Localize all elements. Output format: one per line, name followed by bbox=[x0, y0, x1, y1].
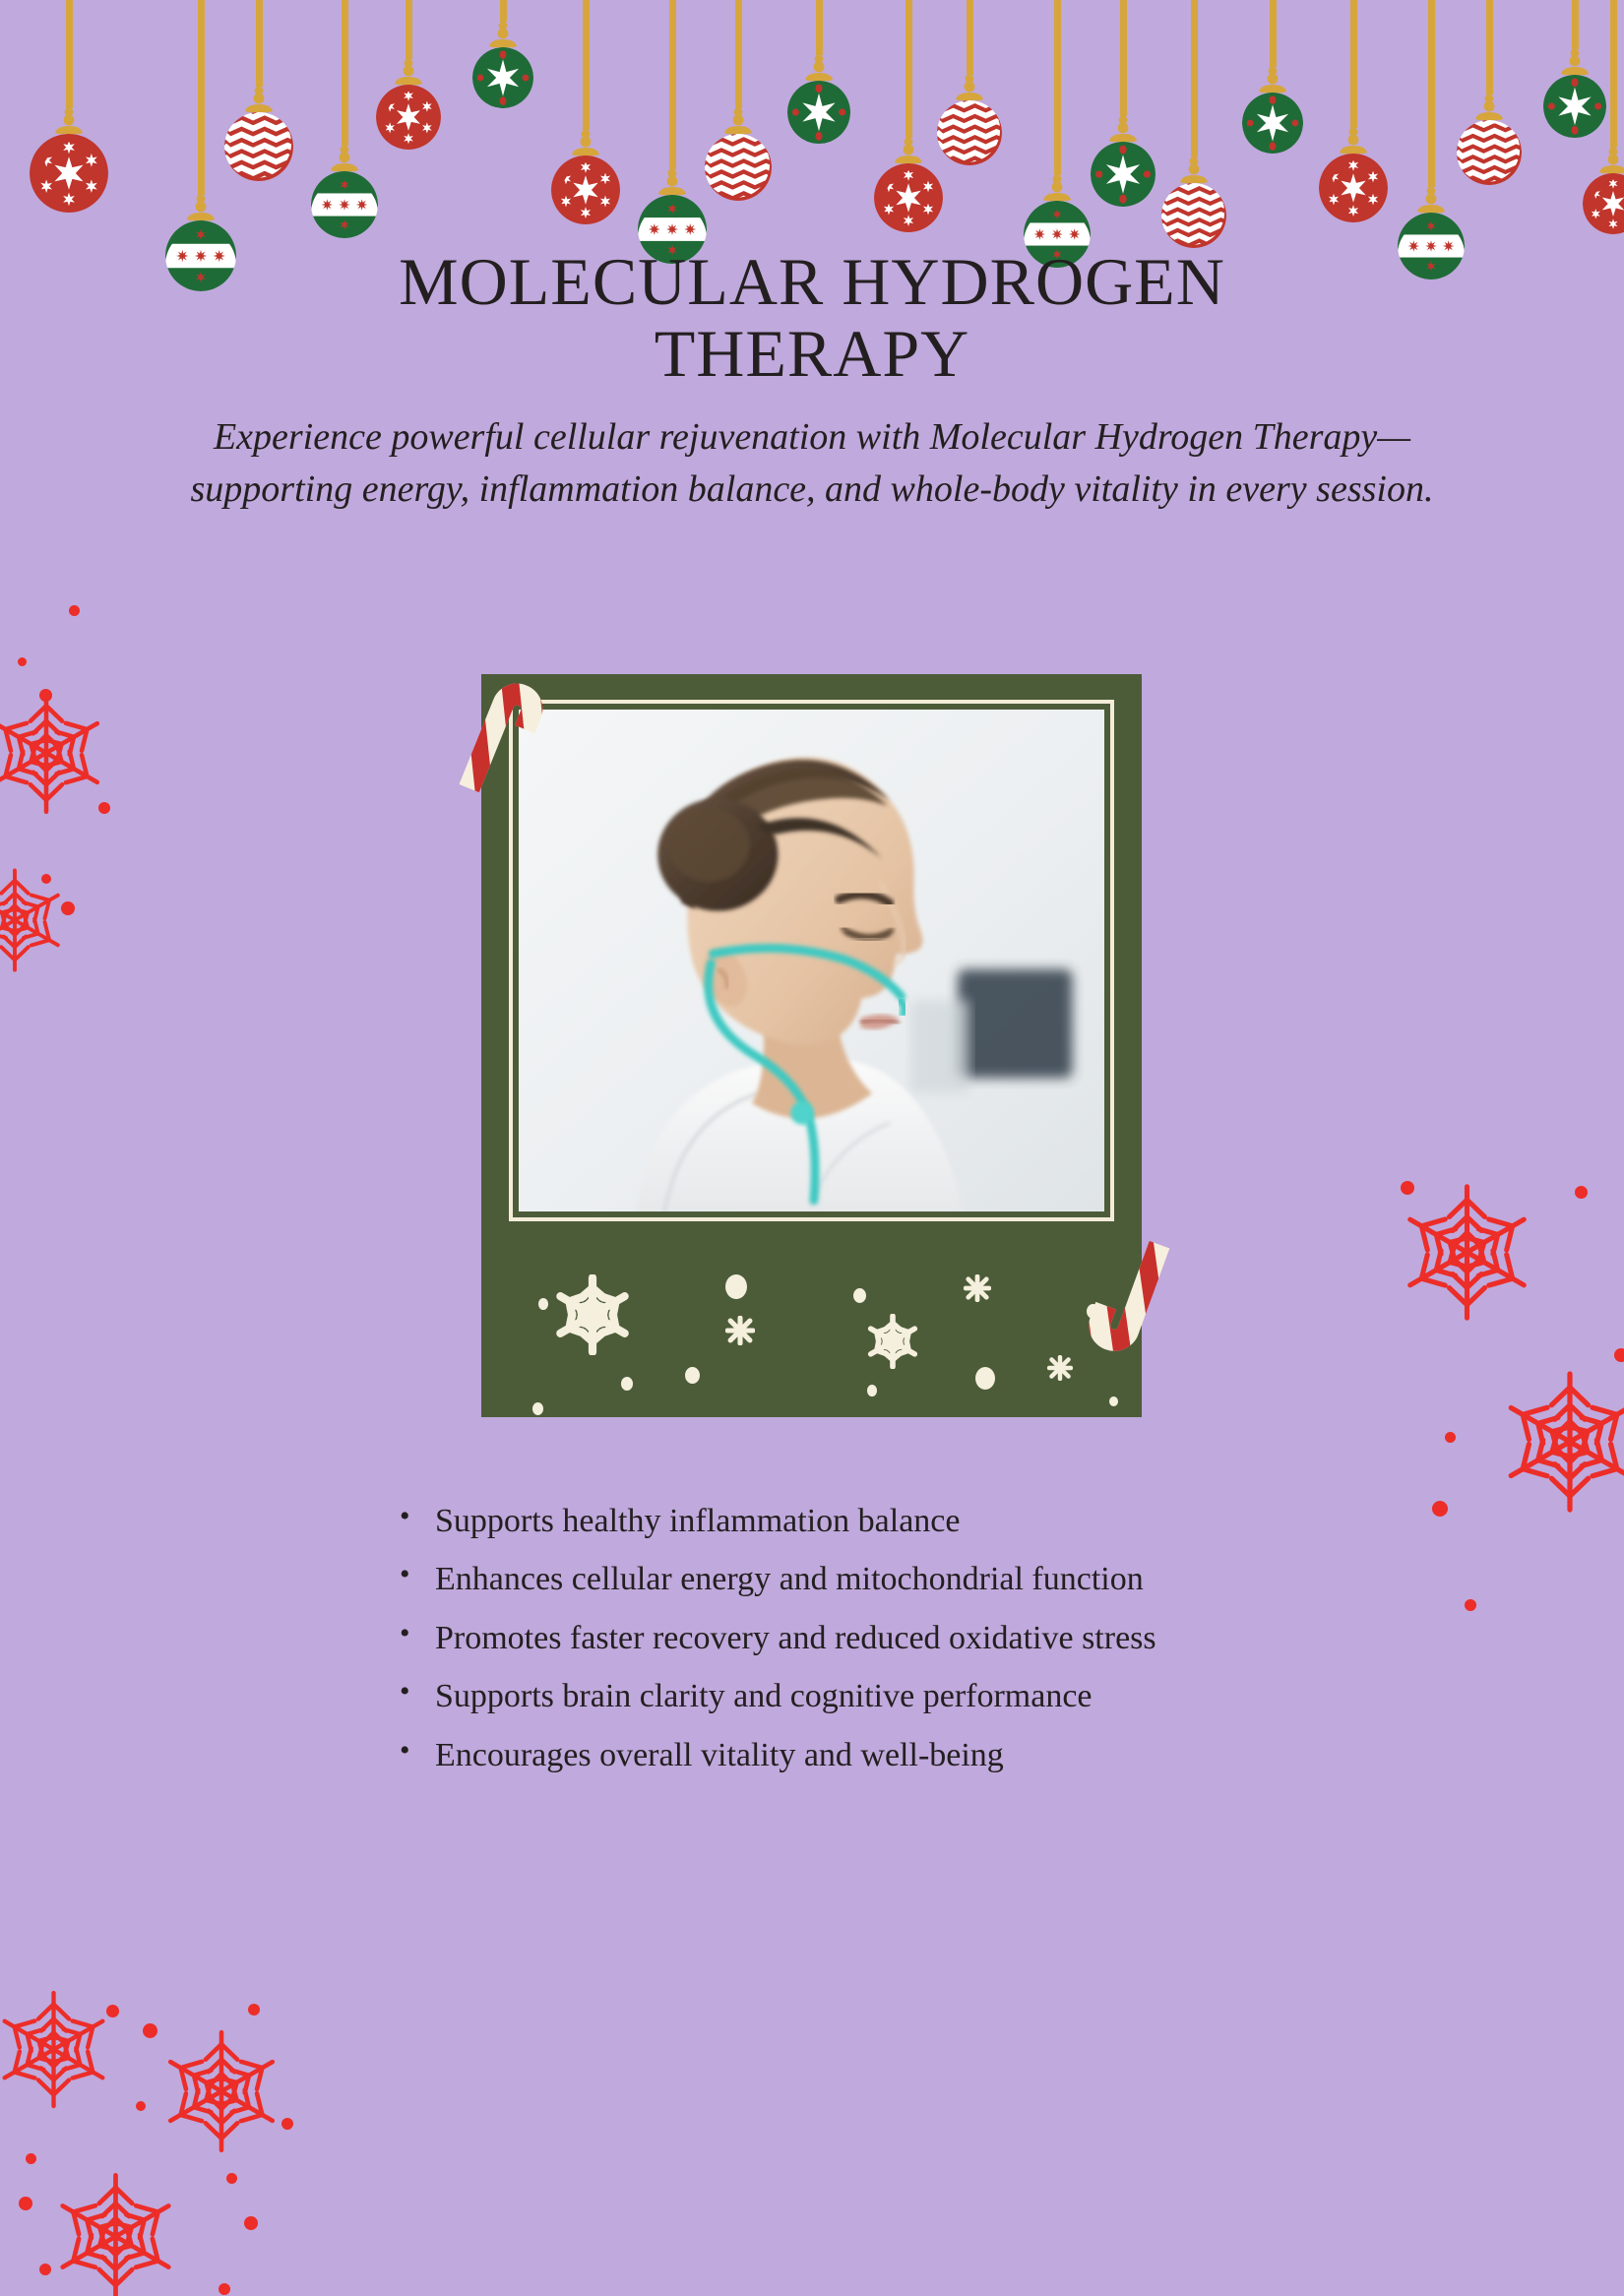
ornament-ball-icon bbox=[311, 171, 378, 238]
snow-dot-icon bbox=[248, 2004, 260, 2016]
ornament-garland bbox=[0, 0, 1624, 256]
therapy-photo-svg bbox=[519, 710, 1104, 1211]
ornament-cord bbox=[342, 0, 348, 146]
title-block: MOLECULAR HYDROGEN THERAPY Experience po… bbox=[0, 246, 1624, 517]
snow-dot-icon bbox=[136, 2101, 146, 2111]
ornament-cap-icon bbox=[953, 75, 986, 108]
ornament-cord bbox=[1428, 0, 1435, 187]
ornament-cap-icon bbox=[721, 108, 755, 142]
ornament-cap-icon bbox=[1414, 187, 1448, 220]
ornament-cord bbox=[406, 0, 412, 59]
therapy-photo bbox=[519, 710, 1104, 1211]
ornament-cap-icon bbox=[1177, 157, 1211, 191]
ornament-cap-icon bbox=[1596, 148, 1624, 181]
page-title: MOLECULAR HYDROGEN THERAPY bbox=[0, 246, 1624, 390]
frame-snowflake-icon bbox=[552, 1274, 633, 1360]
frame-snow-dot-icon bbox=[538, 1298, 548, 1310]
ornament-ball-icon bbox=[705, 134, 772, 201]
ornament-cord bbox=[1054, 0, 1061, 175]
ornament-cap-icon bbox=[242, 87, 276, 120]
snow-dot-icon bbox=[226, 2173, 237, 2184]
snow-dot-icon bbox=[1575, 1186, 1588, 1199]
ornament-cord bbox=[1350, 0, 1357, 128]
ornament-cord bbox=[1191, 0, 1198, 157]
ornament-ball-icon bbox=[937, 100, 1002, 165]
benefits-list: Supports healthy inflammation balanceEnh… bbox=[394, 1494, 1280, 1782]
ornament-ball-icon bbox=[1319, 154, 1388, 222]
ornament-ball-icon bbox=[1543, 75, 1606, 138]
ornament-cord bbox=[66, 0, 73, 108]
frame-snow-dot-icon bbox=[867, 1385, 877, 1396]
snowflake-icon bbox=[1496, 1368, 1624, 1516]
snow-dot-icon bbox=[69, 605, 80, 616]
frame-snow-dot-icon bbox=[621, 1377, 633, 1391]
snow-dot-icon bbox=[41, 874, 51, 884]
snow-dot-icon bbox=[1445, 1432, 1456, 1443]
ornament-ball-icon bbox=[1583, 173, 1624, 234]
snow-dot-icon bbox=[19, 2197, 32, 2210]
frame-snow-dot-icon bbox=[853, 1288, 866, 1303]
ornament-cord bbox=[1610, 0, 1617, 148]
snowflake-icon bbox=[0, 689, 110, 817]
ornament-cap-icon bbox=[892, 138, 925, 171]
ornament-cap-icon bbox=[1040, 175, 1074, 209]
ornament-ball-icon bbox=[551, 155, 620, 224]
ornament-cord bbox=[1270, 0, 1277, 67]
ornament-cord bbox=[669, 0, 676, 169]
photo-frame bbox=[481, 674, 1142, 1417]
ornament-cap-icon bbox=[1558, 49, 1592, 83]
snow-dot-icon bbox=[1614, 1348, 1624, 1362]
snow-dot-icon bbox=[281, 2118, 293, 2130]
snow-dot-icon bbox=[1432, 1501, 1448, 1517]
frame-snow-dot-icon bbox=[975, 1367, 995, 1390]
ornament-cap-icon bbox=[1256, 67, 1289, 100]
ornament-cap-icon bbox=[1337, 128, 1370, 161]
page-title-line-1: MOLECULAR HYDROGEN bbox=[399, 244, 1225, 319]
ornament-cord bbox=[816, 0, 823, 55]
benefit-item: Encourages overall vitality and well-bei… bbox=[394, 1728, 1280, 1782]
ornament-cord bbox=[906, 0, 912, 138]
snow-dot-icon bbox=[39, 2264, 51, 2275]
snowflake-icon bbox=[0, 866, 69, 974]
snowflake-icon bbox=[49, 2170, 182, 2296]
ornament-cap-icon bbox=[1106, 116, 1140, 150]
ornament-cap-icon bbox=[184, 195, 218, 228]
ornament-cord bbox=[735, 0, 742, 108]
ornament-ball-icon bbox=[30, 134, 108, 213]
ornament-cap-icon bbox=[802, 55, 836, 89]
snow-dot-icon bbox=[1465, 1599, 1476, 1611]
ornament-ball-icon bbox=[1457, 120, 1522, 185]
snow-dot-icon bbox=[1401, 1181, 1414, 1195]
ornament-ball-icon bbox=[874, 163, 943, 232]
frame-snow-dot-icon bbox=[685, 1367, 700, 1384]
benefit-item: Enhances cellular energy and mitochondri… bbox=[394, 1552, 1280, 1606]
snowflake-icon bbox=[0, 1988, 115, 2111]
ornament-cord bbox=[1486, 0, 1493, 94]
ornament-cord bbox=[967, 0, 973, 75]
benefit-item: Supports brain clarity and cognitive per… bbox=[394, 1669, 1280, 1723]
page-title-line-2: THERAPY bbox=[655, 316, 970, 391]
snowflake-icon bbox=[1396, 1181, 1538, 1324]
benefits-section: Supports healthy inflammation balanceEnh… bbox=[394, 1494, 1280, 1786]
ornament-cap-icon bbox=[486, 22, 520, 55]
ornament-cap-icon bbox=[656, 169, 689, 203]
frame-snow-dot-icon bbox=[1109, 1396, 1118, 1406]
ornament-cord bbox=[256, 0, 263, 87]
ornament-cord bbox=[1120, 0, 1127, 116]
benefit-item: Supports healthy inflammation balance bbox=[394, 1494, 1280, 1548]
snow-dot-icon bbox=[39, 689, 52, 702]
ornament-cap-icon bbox=[569, 130, 602, 163]
snow-dot-icon bbox=[61, 901, 75, 915]
page-subtitle: Experience powerful cellular rejuvenatio… bbox=[0, 411, 1624, 518]
ornament-cord bbox=[198, 0, 205, 195]
ornament-ball-icon bbox=[1242, 93, 1303, 154]
ornament-ball-icon bbox=[787, 81, 850, 144]
ornament-ball-icon bbox=[1091, 142, 1156, 207]
ornament-cord bbox=[583, 0, 590, 130]
ornament-ball-icon bbox=[224, 112, 293, 181]
frame-snow-band bbox=[481, 1247, 1142, 1417]
frame-snow-dot-icon bbox=[532, 1402, 543, 1415]
snow-dot-icon bbox=[219, 2283, 230, 2295]
snow-dot-icon bbox=[98, 802, 110, 814]
frame-snowflake-icon bbox=[865, 1314, 920, 1374]
frame-snow-dot-icon bbox=[725, 1274, 747, 1299]
snow-dot-icon bbox=[106, 2005, 119, 2017]
poster-canvas: MOLECULAR HYDROGEN THERAPY Experience po… bbox=[0, 0, 1624, 2296]
ornament-cap-icon bbox=[328, 146, 361, 179]
ornament-cap-icon bbox=[52, 108, 86, 142]
ornament-cap-icon bbox=[392, 59, 425, 93]
ornament-ball-icon bbox=[1161, 183, 1226, 248]
ornament-ball-icon bbox=[376, 85, 441, 150]
ornament-cord bbox=[500, 0, 507, 22]
snowflake-icon bbox=[157, 2027, 285, 2155]
snow-dot-icon bbox=[26, 2153, 36, 2164]
snow-dot-icon bbox=[244, 2216, 258, 2230]
frame-snow-star-icon bbox=[964, 1274, 991, 1307]
snow-dot-icon bbox=[18, 657, 27, 666]
ornament-ball-icon bbox=[472, 47, 533, 108]
frame-snow-star-icon bbox=[725, 1316, 755, 1350]
photo-inner-border bbox=[509, 700, 1114, 1221]
snow-dot-icon bbox=[143, 2023, 157, 2038]
ornament-cap-icon bbox=[1472, 94, 1506, 128]
benefit-item: Promotes faster recovery and reduced oxi… bbox=[394, 1611, 1280, 1665]
ornament-cord bbox=[1572, 0, 1579, 49]
